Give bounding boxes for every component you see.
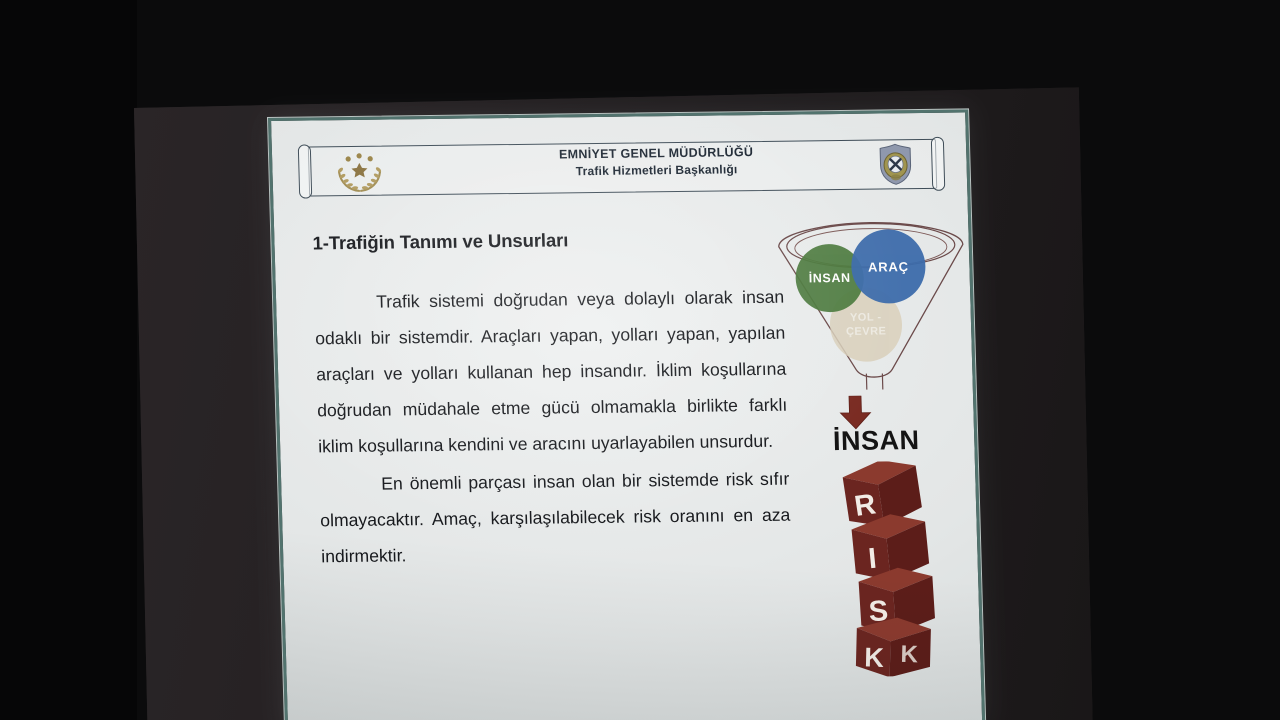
funnel-diagram: YOL - ÇEVRE İNSAN ARAÇ [770,216,975,393]
slide-body: 1-Trafiğin Tanımı ve Unsurları Trafik si… [312,227,792,577]
body-paragraph-2: En önemli parçası insan olan bir sistemd… [319,461,792,575]
page-title: 1-Trafiğin Tanımı ve Unsurları [312,227,783,255]
risk-cubes-graphic: R I S [801,460,977,677]
header-text-block: EMNİYET GENEL MÜDÜRLÜĞÜ Trafik Hizmetler… [486,143,827,181]
projected-slide-wrapper: EMNİYET GENEL MÜDÜRLÜĞÜ Trafik Hizmetler… [268,109,985,720]
room-wall-left [0,0,137,720]
svg-text:K: K [900,641,919,669]
svg-text:K: K [864,642,885,673]
scroll-roll-right-icon [931,137,946,191]
outcome-label-insan: İNSAN [776,424,977,457]
slide-header: EMNİYET GENEL MÜDÜRLÜĞÜ Trafik Hizmetler… [286,135,960,205]
police-badge-emblem-icon [878,143,913,185]
projection-scene: EMNİYET GENEL MÜDÜRLÜĞÜ Trafik Hizmetler… [0,0,1280,720]
presentation-slide: EMNİYET GENEL MÜDÜRLÜĞÜ Trafik Hizmetler… [268,109,985,720]
body-paragraph-1: Trafik sistemi doğrudan veya dolaylı ola… [314,279,789,465]
scroll-roll-left-icon [298,144,313,198]
wreath-star-emblem-icon [330,150,389,195]
risk-cube-stack-icon: R I S [801,460,977,677]
